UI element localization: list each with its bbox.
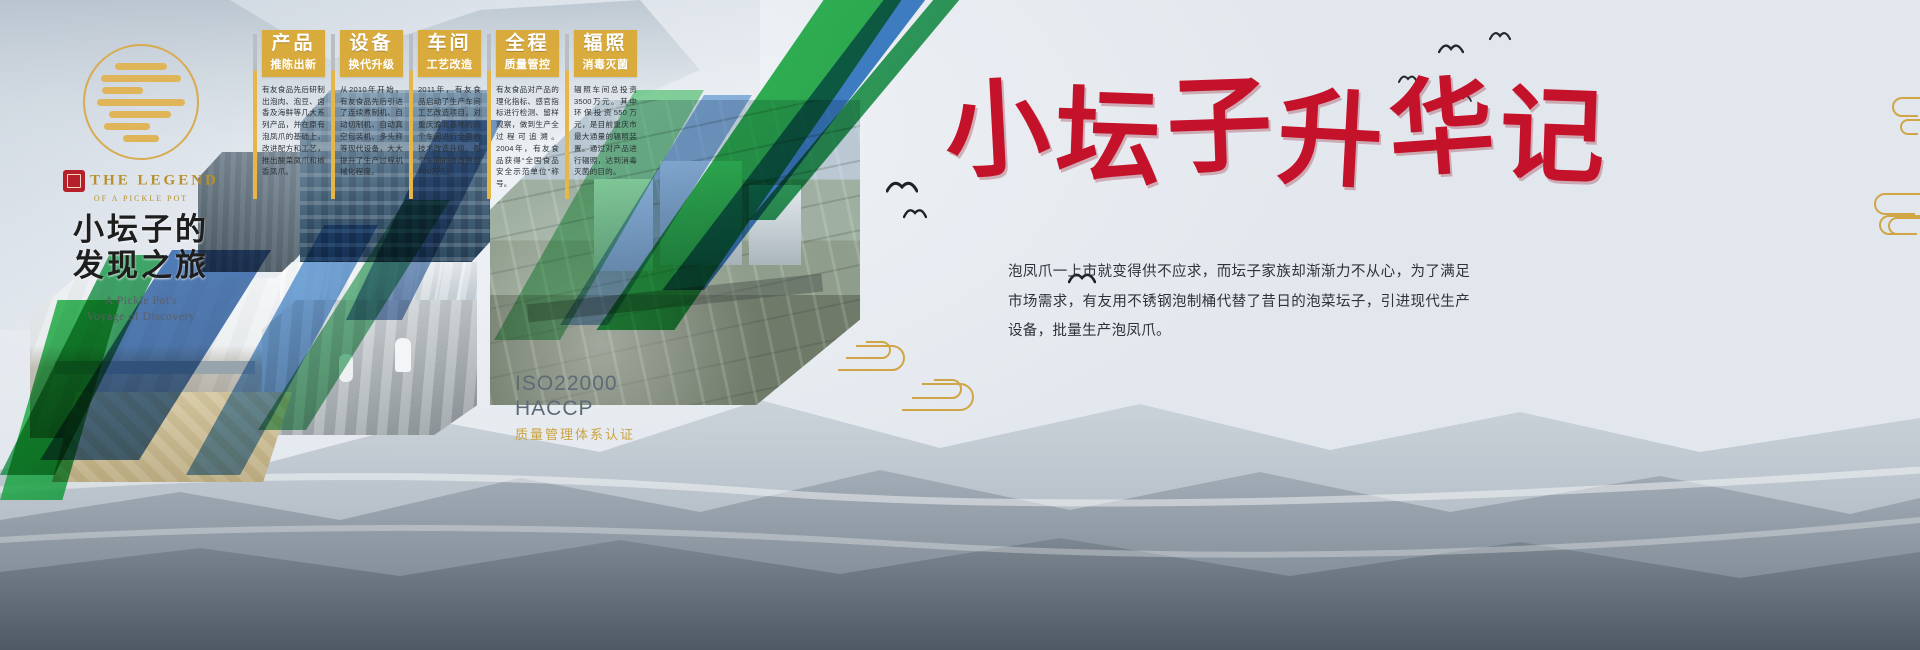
info-column-product: 产品 推陈出新 有友食品先后研制出泡肉、泡豆、卤香及海鲜等几大系列产品，并在原有… xyxy=(253,30,325,190)
brand-cn-line1: 小坛子的 xyxy=(36,213,246,247)
brand-chinese-title: 小坛子的 发现之旅 xyxy=(36,213,246,283)
bird-icon xyxy=(886,176,918,196)
headline-char-5: 华 xyxy=(1385,72,1497,184)
bird-icon xyxy=(1438,40,1464,56)
info-column-workshop: 车间 工艺改造 2011年，有友食品启动了生产车间工艺改造项目，对重庆渝北基地的… xyxy=(409,30,481,190)
photo-tiled-floor-workshop xyxy=(52,392,292,482)
column-rail xyxy=(565,34,569,199)
column-subtitle: 换代升级 xyxy=(343,56,400,72)
column-body: 从2010年开始，有友食品先后引进了连续煮制机、自动切制机、自动真空包装机、多头… xyxy=(340,84,403,178)
headline-calligraphy: 小 坛 子 升 华 记 xyxy=(945,78,1605,183)
headline-char-4: 升 xyxy=(1275,85,1385,195)
banner-canvas: THE LEGEND OF A PICKLE POT 小坛子的 发现之旅 A P… xyxy=(0,0,1920,650)
body-paragraph: 泡凤爪一上市就变得供不应求，而坛子家族却渐渐力不从心，为了满足市场需求，有友用不… xyxy=(1008,258,1470,347)
column-body: 有友食品先后研制出泡肉、泡豆、卤香及海鲜等几大系列产品，并在原有泡凤爪的基础上，… xyxy=(262,84,325,178)
red-seal-icon xyxy=(63,170,85,192)
brand-en-line2: OF A PICKLE POT xyxy=(36,194,246,203)
column-header: 辐照 消毒灭菌 xyxy=(574,30,637,77)
cert-chinese-line: 质量管理体系认证 xyxy=(515,424,635,443)
column-subtitle: 工艺改造 xyxy=(421,56,478,72)
headline-char-2: 坛 xyxy=(1054,84,1163,193)
column-body: 2011年，有友食品启动了生产车间工艺改造项目，对重庆渝北基地的四个车间进行全面… xyxy=(418,84,481,178)
column-title: 全程 xyxy=(499,34,556,54)
brand-sub-line2: Voyage of Discovery xyxy=(36,308,246,324)
bird-icon xyxy=(903,205,927,220)
column-subtitle: 推陈出新 xyxy=(265,56,322,72)
info-columns: 产品 推陈出新 有友食品先后研制出泡肉、泡豆、卤香及海鲜等几大系列产品，并在原有… xyxy=(253,30,637,190)
info-column-irradiation: 辐照 消毒灭菌 辐照车间总投资3500万元。其中环保投资550万元，是目前重庆市… xyxy=(565,30,637,190)
brand-en-line1: THE LEGEND xyxy=(90,172,219,188)
column-title: 设备 xyxy=(343,34,400,54)
column-header: 车间 工艺改造 xyxy=(418,30,481,77)
certification-block: ISO22000 HACCP 质量管理体系认证 xyxy=(515,372,635,443)
column-body: 辐照车间总投资3500万元。其中环保投资550万元，是目前重庆市最大通量的辐照装… xyxy=(574,84,637,178)
pot-seal-icon xyxy=(83,44,199,160)
column-header: 全程 质量管控 xyxy=(496,30,559,77)
brand-sub-line1: A Pickle Pot's xyxy=(36,292,246,308)
brand-english-subtitle: A Pickle Pot's Voyage of Discovery xyxy=(36,292,246,324)
photo-production-line-workers xyxy=(262,300,477,435)
column-title: 辐照 xyxy=(577,34,634,54)
headline-char-3: 子 xyxy=(1165,72,1274,181)
cert-iso-line: ISO22000 xyxy=(515,372,635,396)
column-header: 产品 推陈出新 xyxy=(262,30,325,77)
column-title: 车间 xyxy=(421,34,478,54)
bird-icon xyxy=(1489,28,1511,42)
column-body: 有友食品对产品的理化指标、感官指标进行检测、留样观察，做到生产全过程可追溯。20… xyxy=(496,84,559,190)
headline-char-6: 记 xyxy=(1498,82,1607,191)
cert-haccp-line: HACCP xyxy=(515,397,635,421)
headline-char-1: 小 xyxy=(942,75,1052,185)
cloud-motif-icon xyxy=(1878,90,1920,148)
cloud-motif-icon xyxy=(1855,212,1920,252)
column-title: 产品 xyxy=(265,34,322,54)
cloud-motif-icon xyxy=(900,368,992,414)
column-subtitle: 消毒灭菌 xyxy=(577,56,634,72)
brand-logo-block: THE LEGEND OF A PICKLE POT 小坛子的 发现之旅 A P… xyxy=(36,44,246,325)
column-subtitle: 质量管控 xyxy=(499,56,556,72)
info-column-equipment: 设备 换代升级 从2010年开始，有友食品先后引进了连续煮制机、自动切制机、自动… xyxy=(331,30,403,190)
info-column-quality: 全程 质量管控 有友食品对产品的理化指标、感官指标进行检测、留样观察，做到生产全… xyxy=(487,30,559,190)
brand-cn-line2: 发现之旅 xyxy=(36,249,246,283)
column-header: 设备 换代升级 xyxy=(340,30,403,77)
column-rail xyxy=(409,34,413,199)
column-rail xyxy=(331,34,335,199)
brand-english-lockup: THE LEGEND OF A PICKLE POT xyxy=(36,170,246,203)
column-rail xyxy=(487,34,491,199)
column-rail xyxy=(253,34,257,199)
